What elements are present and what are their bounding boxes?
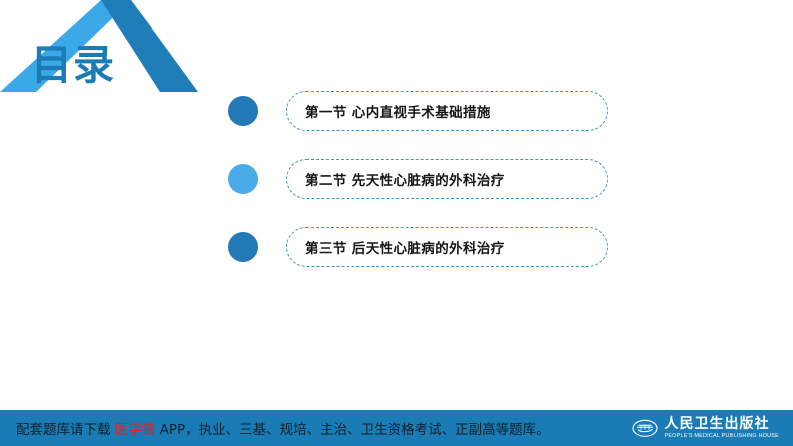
page-title: 目录 (31, 45, 115, 86)
toc-item-label-3: 第三节 后天性心脏病的外科治疗 (305, 237, 505, 257)
bullet-icon-3 (228, 232, 258, 262)
publisher-name-cn: 人民卫生出版社 (664, 417, 779, 431)
toc-item-3[interactable]: 第三节 后天性心脏病的外科治疗 (228, 224, 608, 270)
footer-text-before: 配套题库请下载 (16, 422, 115, 438)
toc-item-2[interactable]: 第二节 先天性心脏病的外科治疗 (228, 156, 608, 202)
toc-list: 第一节 心内直视手术基础措施 第二节 先天性心脏病的外科治疗 第三节 后天性心脏… (228, 88, 608, 292)
toc-item-1[interactable]: 第一节 心内直视手术基础措施 (228, 88, 608, 134)
footer-promo-text: 配套题库请下载 医学猫 APP，执业、三基、规培、主治、卫生资格考试、正副高等题… (16, 418, 550, 438)
toc-pill-2[interactable]: 第二节 先天性心脏病的外科治疗 (286, 159, 608, 199)
logo-block: 目录 (0, 0, 210, 95)
toc-item-label-2: 第二节 先天性心脏病的外科治疗 (305, 169, 505, 189)
bullet-icon-2 (228, 164, 258, 194)
bullet-icon-1 (228, 96, 258, 126)
footer-text-highlight: 医学猫 (115, 422, 156, 438)
footer-bar: 配套题库请下载 医学猫 APP，执业、三基、规培、主治、卫生资格考试、正副高等题… (0, 410, 793, 446)
toc-item-label-1: 第一节 心内直视手术基础措施 (305, 101, 491, 121)
slide-root: 目录 第一节 心内直视手术基础措施 第二节 先天性心脏病的外科治疗 第三节 后天… (0, 0, 793, 446)
toc-pill-1[interactable]: 第一节 心内直视手术基础措施 (286, 91, 608, 131)
publisher-names: 人民卫生出版社 PEOPLE'S MEDICAL PUBLISHING HOUS… (664, 417, 779, 439)
publisher-logo: 人民卫生出版社 PEOPLE'S MEDICAL PUBLISHING HOUS… (632, 417, 779, 439)
publisher-name-en: PEOPLE'S MEDICAL PUBLISHING HOUSE (664, 434, 779, 439)
footer-text-after: APP，执业、三基、规培、主治、卫生资格考试、正副高等题库。 (155, 422, 549, 438)
toc-pill-3[interactable]: 第三节 后天性心脏病的外科治疗 (286, 227, 608, 267)
pmph-oval-emblem-icon (632, 419, 658, 438)
